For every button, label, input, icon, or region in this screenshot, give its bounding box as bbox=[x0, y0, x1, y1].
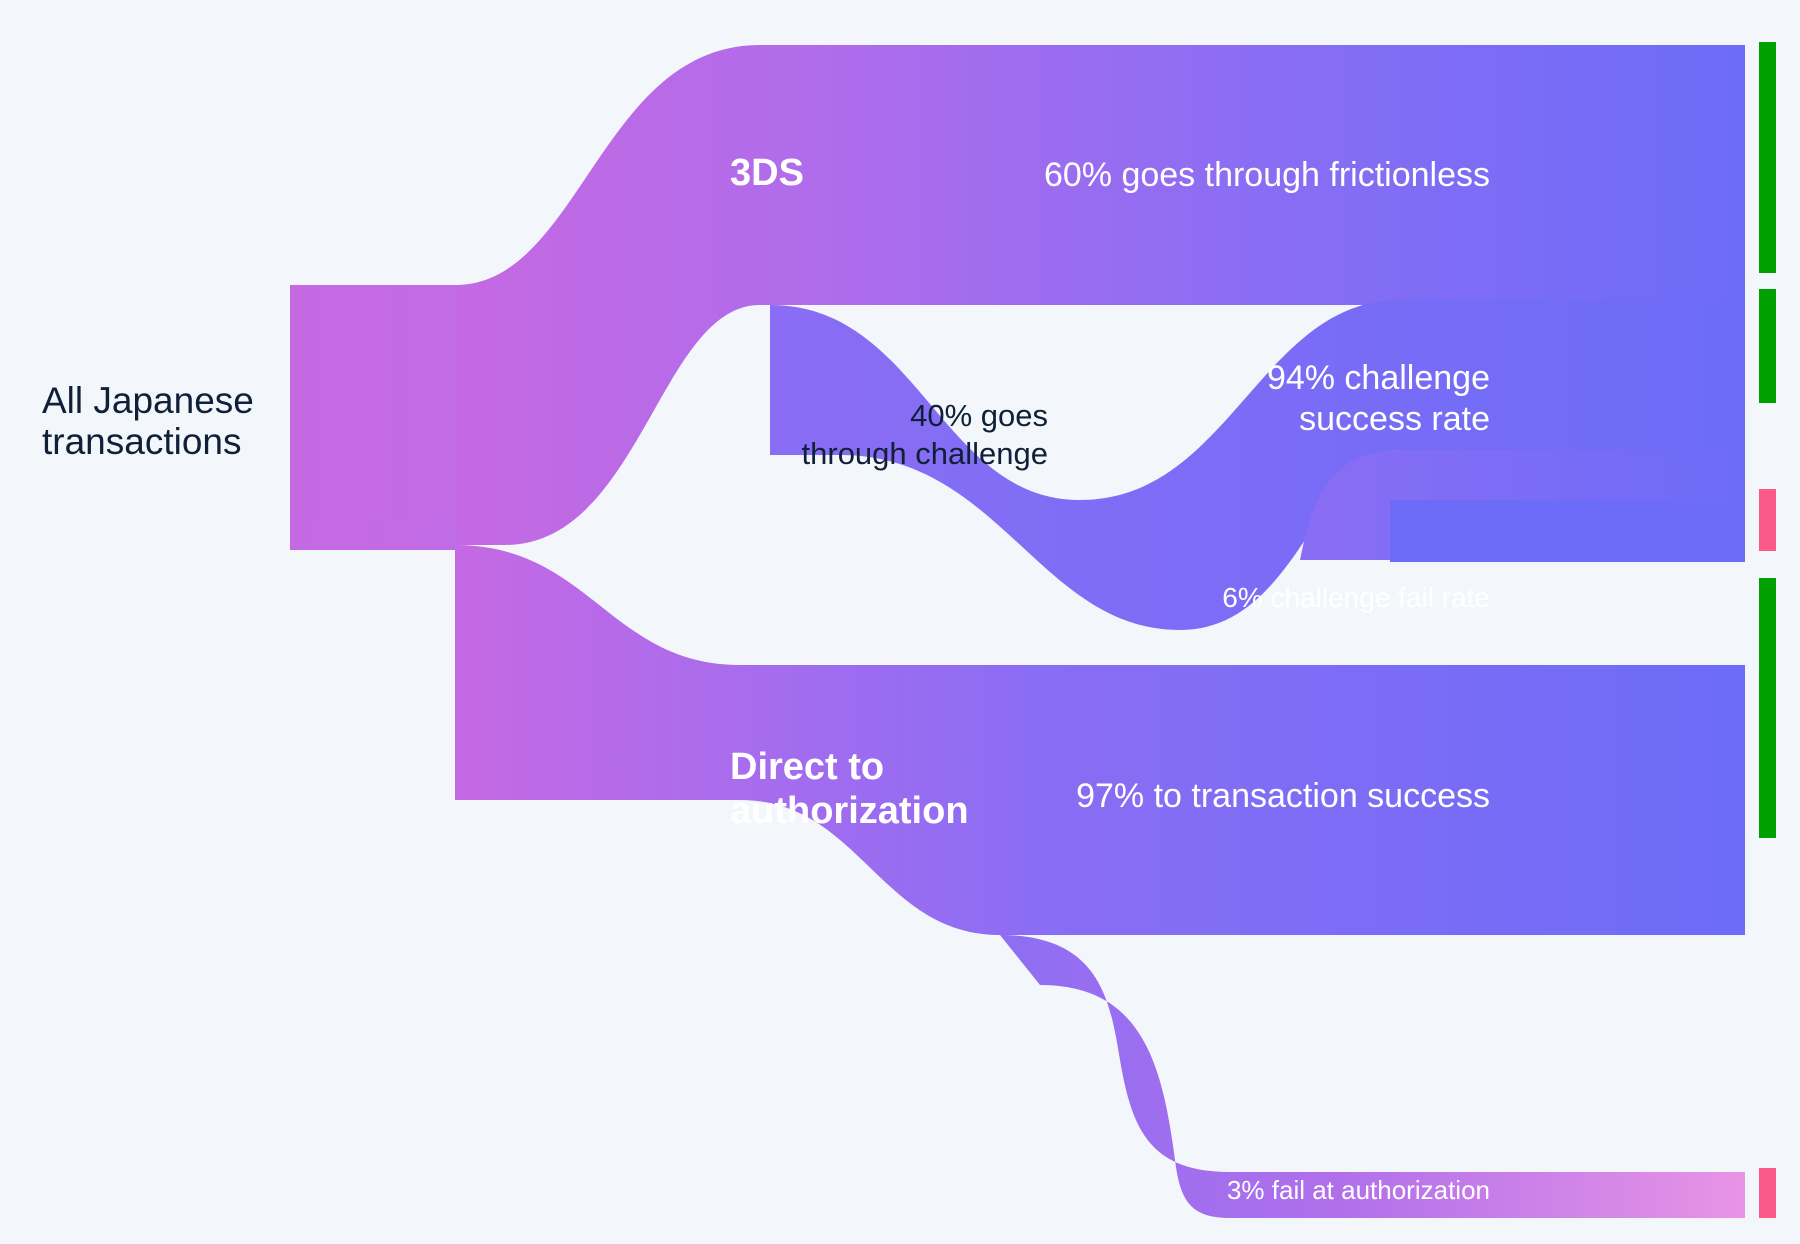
outcome-bar-challenge-fail bbox=[1390, 500, 1745, 562]
fail-marker-challenge-fail bbox=[1759, 489, 1776, 551]
source-lower-connector bbox=[290, 520, 460, 550]
success-marker-frictionless bbox=[1759, 42, 1776, 273]
success-marker-challenge-success bbox=[1759, 289, 1776, 403]
sankey-diagram-canvas: All Japanese transactions 3DS Direct to … bbox=[0, 0, 1800, 1244]
sankey-flow-svg bbox=[0, 0, 1800, 1244]
fail-marker-auth-fail bbox=[1759, 1168, 1776, 1218]
success-marker-auth-success bbox=[1759, 578, 1776, 838]
flow-direct-auth-fail bbox=[1000, 935, 1745, 1218]
